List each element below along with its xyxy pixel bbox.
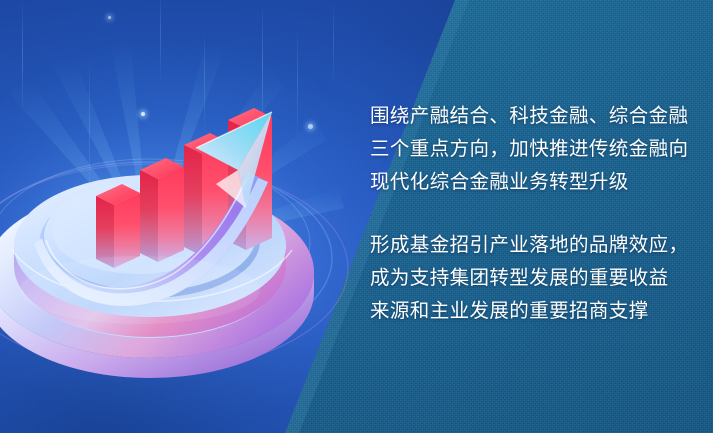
paragraph-2-line-1: 形成基金招引产业落地的品牌效应， (370, 229, 690, 262)
paragraph-1-line-1: 围绕产融结合、科技金融、综合金融 (370, 100, 690, 133)
growth-chart-illustration (0, 0, 360, 433)
banner-root: 围绕产融结合、科技金融、综合金融 三个重点方向，加快推进传统金融向 现代化综合金… (0, 0, 713, 433)
paragraph-1: 围绕产融结合、科技金融、综合金融 三个重点方向，加快推进传统金融向 现代化综合金… (370, 100, 690, 199)
paragraph-2-line-2: 成为支持集团转型发展的重要收益 (370, 262, 690, 295)
paragraph-1-line-2: 三个重点方向，加快推进传统金融向 (370, 133, 690, 166)
podium-front-sheen (20, 256, 260, 324)
paragraph-1-line-3: 现代化综合金融业务转型升级 (370, 166, 690, 199)
paragraph-2-line-3: 来源和主业发展的重要招商支撑 (370, 295, 690, 328)
copy-block: 围绕产融结合、科技金融、综合金融 三个重点方向，加快推进传统金融向 现代化综合金… (370, 100, 690, 328)
bar-1 (96, 184, 140, 268)
paragraph-2: 形成基金招引产业落地的品牌效应， 成为支持集团转型发展的重要收益 来源和主业发展… (370, 229, 690, 328)
bar-2 (140, 158, 184, 262)
